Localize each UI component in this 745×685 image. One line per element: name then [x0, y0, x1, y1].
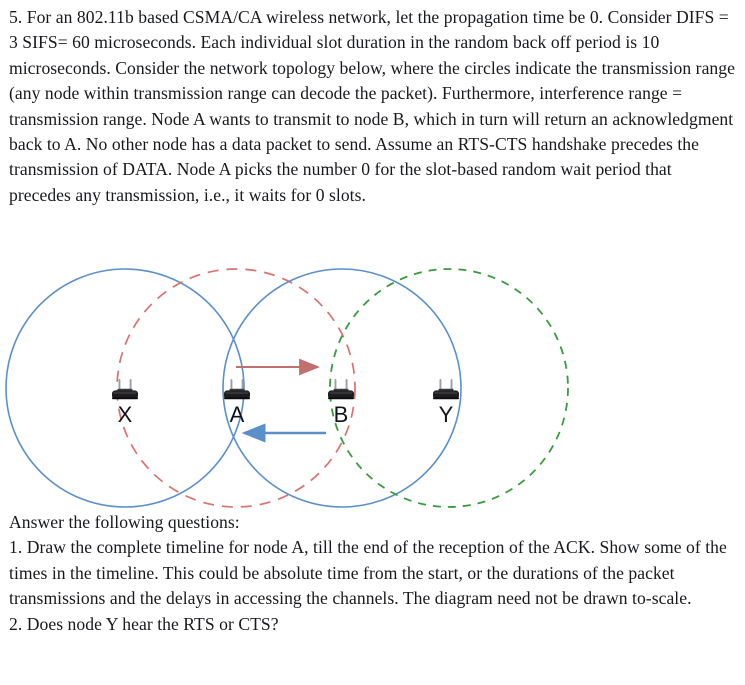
node-y-label: Y	[439, 402, 454, 427]
range-circle-x	[6, 269, 244, 507]
node-a-label: A	[230, 402, 245, 427]
intro-paragraph: 5. For an 802.11b based CSMA/CA wireless…	[9, 5, 737, 208]
questions-block: Answer the following questions: 1. Draw …	[9, 510, 737, 637]
node-b: B	[328, 379, 354, 427]
node-b-label: B	[334, 402, 349, 427]
node-y: Y	[433, 379, 459, 427]
range-circle-y	[330, 269, 568, 507]
document-page: 5. For an 802.11b based CSMA/CA wireless…	[0, 0, 745, 685]
range-circle-b	[223, 269, 461, 507]
node-x: X	[112, 379, 138, 427]
node-x-label: X	[118, 402, 133, 427]
range-circle-a	[117, 269, 355, 507]
network-topology-diagram: X A B Y	[0, 250, 745, 515]
